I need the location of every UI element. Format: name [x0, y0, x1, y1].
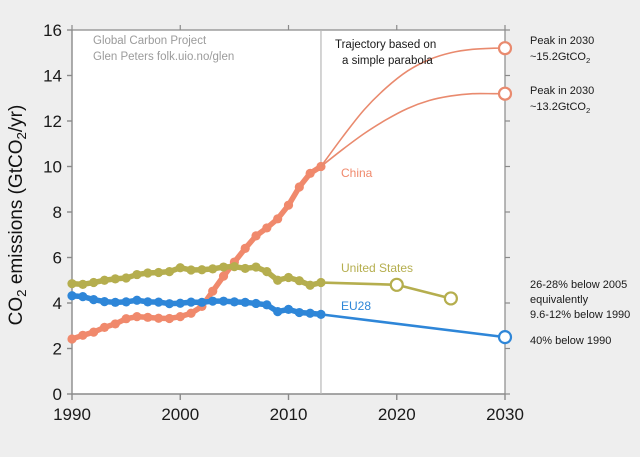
projection-endpoint-marker — [499, 331, 511, 343]
x-tick-label: 2020 — [378, 405, 416, 424]
data-point — [241, 244, 250, 253]
data-point — [122, 314, 131, 323]
x-tick-label: 1990 — [53, 405, 91, 424]
data-point — [273, 276, 282, 285]
data-point — [143, 268, 152, 277]
data-point — [219, 272, 228, 281]
data-point — [100, 276, 109, 285]
data-point — [143, 297, 152, 306]
data-point — [122, 297, 131, 306]
data-point — [208, 297, 217, 306]
eu-pledge-line-1: 40% below 1990 — [530, 335, 611, 347]
peak-low-line-1: Peak in 2030 — [530, 85, 594, 97]
data-point — [219, 297, 228, 306]
plot-area-background — [72, 30, 505, 394]
data-point — [67, 291, 76, 300]
data-point — [295, 308, 304, 317]
data-point — [67, 334, 76, 343]
data-point — [230, 297, 239, 306]
data-point — [186, 265, 195, 274]
data-point — [197, 265, 206, 274]
data-point — [165, 314, 174, 323]
data-point — [262, 300, 271, 309]
data-point — [306, 281, 315, 290]
y-tick-label: 2 — [53, 340, 62, 359]
x-tick-label: 2010 — [270, 405, 308, 424]
data-point — [78, 331, 87, 340]
data-point — [111, 298, 120, 307]
peak-low-value: ~13.2GtCO — [530, 101, 586, 113]
data-point — [262, 223, 271, 232]
data-point — [197, 298, 206, 307]
data-point — [78, 280, 87, 289]
data-point — [295, 182, 304, 191]
data-point — [208, 287, 217, 296]
projection-endpoint-marker — [499, 88, 511, 100]
projection-marker — [391, 279, 403, 291]
data-point — [241, 264, 250, 273]
peak-low-sub: 2 — [586, 106, 590, 115]
us-pledge-line-2: equivalently — [530, 294, 589, 306]
data-point — [306, 309, 315, 318]
data-point — [67, 279, 76, 288]
series-label-china: China — [341, 166, 373, 180]
trajectory-note-line-2: a simple parabola — [342, 55, 433, 67]
data-point — [89, 328, 98, 337]
data-point — [111, 274, 120, 283]
data-point — [176, 312, 185, 321]
peak-high-line-1: Peak in 2030 — [530, 35, 594, 47]
data-point — [262, 267, 271, 276]
y-tick-label: 12 — [43, 112, 62, 131]
trajectory-note-line-1: Trajectory based on — [335, 39, 436, 51]
projection-marker — [445, 292, 457, 304]
y-axis-title-a-sub: 2 — [14, 289, 29, 296]
data-point — [219, 262, 228, 271]
y-axis-title-b: emissions (GtCO — [6, 140, 27, 290]
y-tick-label: 10 — [43, 158, 62, 177]
data-point — [284, 201, 293, 210]
data-point — [284, 273, 293, 282]
peak-high-line-2: ~15.2GtCO2 — [530, 51, 590, 65]
attribution-line-1: Global Carbon Project — [93, 35, 207, 47]
y-tick-label: 0 — [53, 385, 62, 404]
y-tick-label: 8 — [53, 203, 62, 222]
data-point — [154, 268, 163, 277]
x-tick-label: 2030 — [486, 405, 524, 424]
emissions-line-chart: 024681012141619902000201020202030 ChinaU… — [0, 0, 640, 457]
us-pledge-line-1: 26-28% below 2005 — [530, 279, 627, 291]
data-point — [273, 307, 282, 316]
y-tick-label: 16 — [43, 21, 62, 40]
data-point — [251, 231, 260, 240]
y-tick-label: 6 — [53, 249, 62, 268]
data-point — [230, 262, 239, 271]
data-point — [132, 312, 141, 321]
y-axis-title-c: /yr) — [6, 105, 27, 132]
data-point — [284, 305, 293, 314]
data-point — [89, 295, 98, 304]
y-axis-title-a: CO — [6, 297, 27, 326]
data-point — [78, 292, 87, 301]
data-point — [241, 298, 250, 307]
data-point — [176, 299, 185, 308]
data-point — [143, 313, 152, 322]
y-tick-label: 14 — [43, 67, 62, 86]
data-point — [186, 309, 195, 318]
us-pledge-line-3: 9.6-12% below 1990 — [530, 309, 630, 321]
data-point — [100, 323, 109, 332]
data-point — [154, 297, 163, 306]
peak-high-value: ~15.2GtCO — [530, 51, 586, 63]
data-point — [89, 278, 98, 287]
attribution-line-2: Glen Peters folk.uio.no/glen — [93, 51, 234, 63]
series-label-eu28: EU28 — [341, 299, 371, 313]
data-point — [306, 169, 315, 178]
data-point — [295, 276, 304, 285]
data-point — [176, 263, 185, 272]
y-tick-label: 4 — [53, 294, 62, 313]
data-point — [132, 270, 141, 279]
series-label-united-states: United States — [341, 261, 413, 275]
data-point — [251, 299, 260, 308]
chart-container: 024681012141619902000201020202030 ChinaU… — [0, 0, 640, 457]
peak-high-sub: 2 — [586, 56, 590, 65]
data-point — [122, 273, 131, 282]
y-axis-title-b-sub: 2 — [14, 132, 29, 139]
data-point — [251, 262, 260, 271]
data-point — [165, 267, 174, 276]
data-point — [100, 297, 109, 306]
data-point — [111, 319, 120, 328]
peak-low-line-2: ~13.2GtCO2 — [530, 101, 590, 115]
data-point — [273, 214, 282, 223]
data-point — [165, 299, 174, 308]
x-tick-label: 2000 — [161, 405, 199, 424]
data-point — [208, 264, 217, 273]
data-point — [154, 314, 163, 323]
data-point — [186, 297, 195, 306]
projection-endpoint-marker — [499, 42, 511, 54]
data-point — [132, 296, 141, 305]
